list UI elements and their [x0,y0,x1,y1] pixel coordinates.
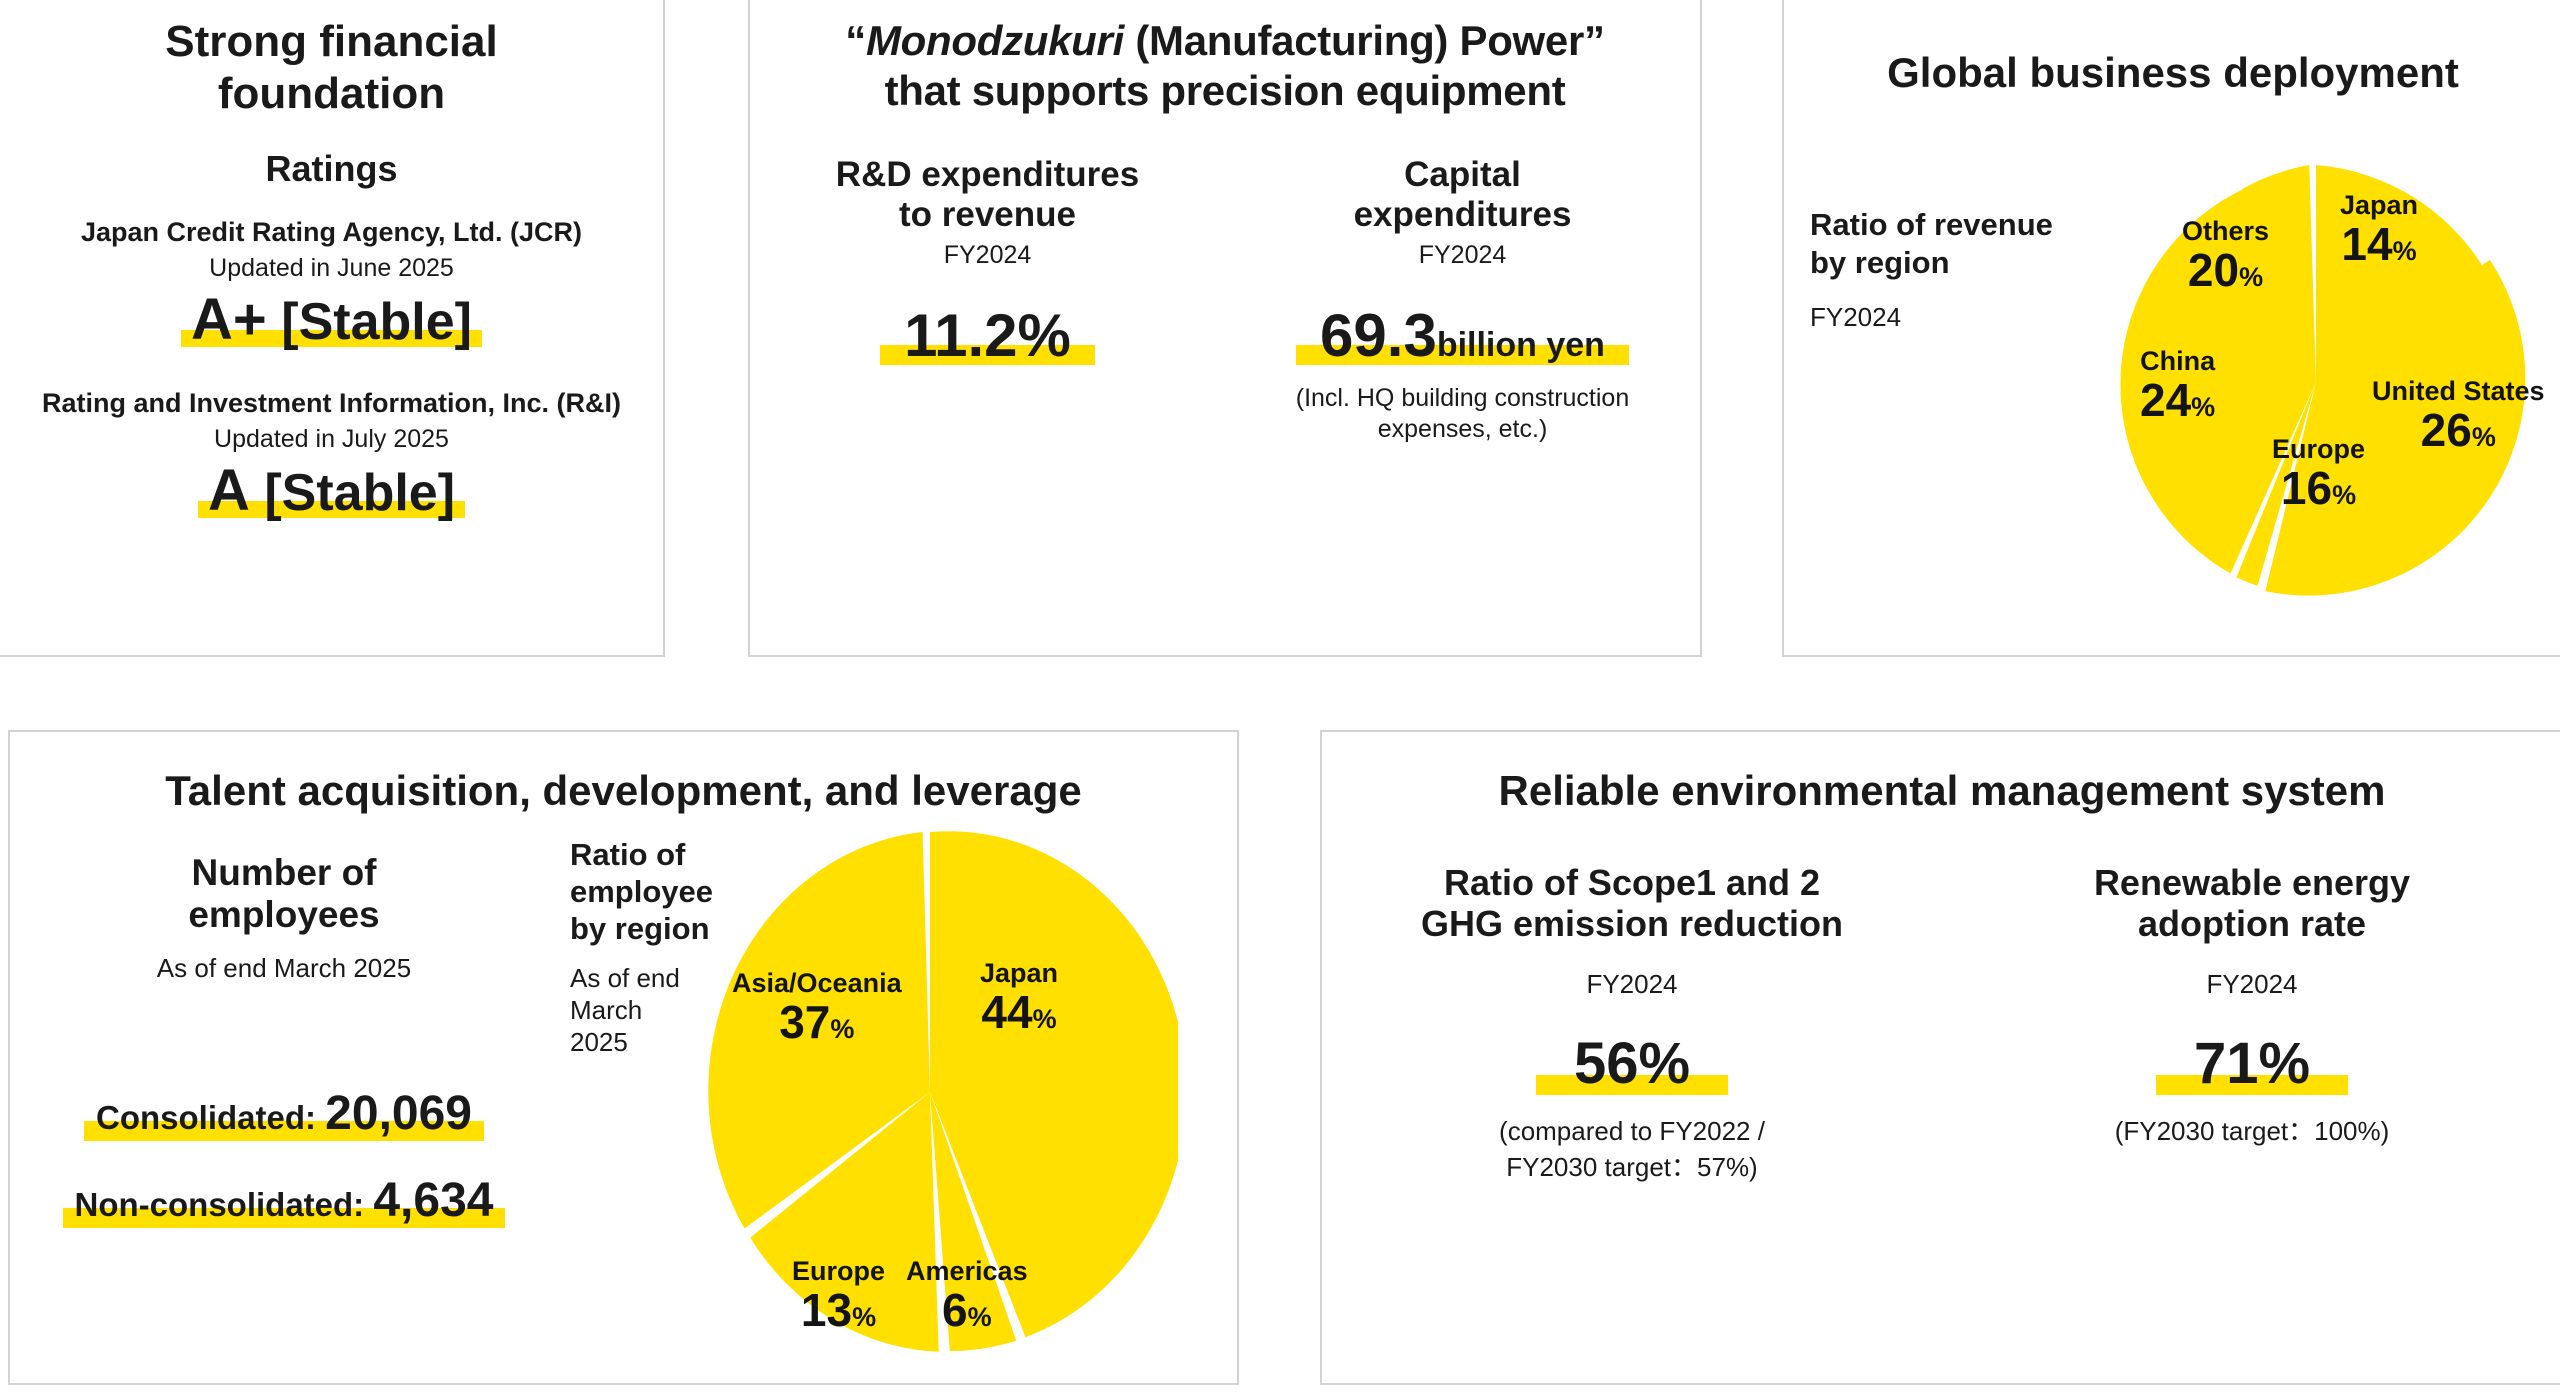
employees-title-line1: Number of [192,852,377,893]
panel-global-business-deployment: Global business deployment Ratio of reve… [1782,0,2560,657]
number-of-employees-block: Number of employees As of end March 2025… [28,852,540,1228]
kpi-rd-expenditures: R&D expenditures to revenue FY2024 11.2% [750,155,1225,445]
pie-label-japan-name: Japan [2340,192,2418,219]
env-label-ghg: Ratio of Scope1 and 2 GHG emission reduc… [1338,862,1926,946]
employee-ratio-caption-line1: Ratio of employee [570,837,713,909]
panel-title-monodzukuri-line2: that supports precision equipment [885,67,1566,114]
rating-block-rni: Rating and Investment Information, Inc. … [0,387,663,522]
rating-updated-jcr: Updated in June 2025 [0,252,663,285]
employees-as-of: As of end March 2025 [28,953,540,984]
pie-label-japan: Japan 44% [980,960,1058,1035]
rating-outlook-rni: [Stable] [264,464,455,522]
panel-title-financial: Strong financial foundation [0,16,663,120]
panel-title-global: Global business deployment [1784,48,2560,98]
panel-strong-financial-foundation: Strong financial foundation Ratings Japa… [0,0,665,657]
employee-ratio-caption-line2: by region [570,911,710,946]
env-value-highlight-renewable: 71% [2156,1034,2348,1095]
infographic-board: Strong financial foundation Ratings Japa… [0,0,2560,1393]
pie-label-europe-name: Europe [792,1258,885,1285]
env-label-renewable: Renewable energy adoption rate [1958,862,2546,946]
kpi-period-rd: FY2024 [764,241,1211,270]
rating-grade-rni: A [208,458,250,523]
revenue-by-region-pie-chart: Japan 14% United States 26% Europe 16% C… [2090,156,2542,608]
employee-ratio-caption: Ratio of employee by region As of end Ma… [570,836,790,1059]
kpi-label-rd-line1: R&D expenditures [836,155,1139,194]
kpi-period-capex: FY2024 [1239,241,1686,270]
consolidated-value: 20,069 [325,1087,472,1140]
pie-label-japan-name: Japan [980,960,1058,987]
employee-ratio-as-of: As of end March 2025 [570,963,790,1058]
env-label-ghg-line2: GHG emission reduction [1421,903,1843,944]
env-value-ghg: 56% [1574,1031,1690,1096]
env-metric-renewable: Renewable energy adoption rate FY2024 71… [1942,862,2560,1186]
env-label-ghg-line1: Ratio of Scope1 and 2 [1444,862,1820,903]
kpi-label-rd-line2: to revenue [899,195,1076,234]
pie-label-europe: Europe 16% [2272,436,2365,511]
kpi-label-capex: Capital expenditures [1239,155,1686,235]
env-label-renewable-line1: Renewable energy [2094,862,2410,903]
pie-label-japan-pct: % [1033,1004,1057,1034]
pie-label-japan-value: 14 [2341,218,2392,270]
kpi-capital-expenditures: Capital expenditures FY2024 69.3billion … [1225,155,1700,445]
pie-label-united-states-value: 26 [2421,404,2472,456]
pie-label-united-states-pct: % [2472,422,2496,452]
pie-label-others: Others 20% [2182,218,2269,293]
pie-label-others-value: 20 [2188,244,2239,296]
rating-grade-jcr: A+ [191,287,267,352]
rating-updated-rni: Updated in July 2025 [0,423,663,456]
env-note-ghg: (compared to FY2022 / FY2030 target：57%) [1338,1113,1926,1186]
pie-label-americas: Americas 6% [906,1258,1028,1333]
nonconsolidated-employees-highlight: Non-consolidated: 4,634 [63,1175,506,1228]
env-note-ghg-line1: (compared to FY2022 / [1499,1116,1765,1146]
pie-label-europe-value: 13 [801,1284,852,1336]
rating-value-rni: A [Stable] [208,464,455,522]
pie-label-europe-value: 16 [2281,462,2332,514]
kpi-note-capex-line1: (Incl. HQ building construction [1296,384,1629,412]
env-label-renewable-line2: adoption rate [2138,903,2366,944]
panel-title-environment: Reliable environmental management system [1322,766,2560,816]
panel-environmental-management: Reliable environmental management system… [1320,730,2560,1385]
employees-title: Number of employees [28,852,540,938]
pie-label-united-states-name: United States [2372,378,2545,405]
consolidated-employees-highlight: Consolidated: 20,069 [84,1088,484,1141]
panel-title-financial-line1: Strong financial [165,17,497,66]
pie-label-europe-pct: % [2332,480,2356,510]
quote-open: “ [845,17,866,64]
ratings-heading: Ratings [0,148,663,190]
employees-title-line2: employees [188,894,379,935]
rating-block-jcr: Japan Credit Rating Agency, Ltd. (JCR) U… [0,216,663,351]
pie-label-china: China 24% [2140,348,2215,423]
consolidated-employees: Consolidated: 20,069 [96,1099,472,1136]
rating-value-highlight-jcr: A+ [Stable] [181,290,482,351]
panel-title-financial-line2: foundation [218,69,445,118]
nonconsolidated-label: Non-consolidated: [75,1186,365,1223]
kpi-label-capex-line2: expenditures [1354,195,1572,234]
pie-label-americas-name: Americas [906,1258,1028,1285]
env-value-renewable: 71% [2194,1031,2310,1096]
env-metrics-row: Ratio of Scope1 and 2 GHG emission reduc… [1322,862,2560,1186]
kpi-value-highlight-capex: 69.3billion yen [1296,304,1629,367]
kpi-value-capex: 69.3billion yen [1320,302,1605,369]
rating-value-highlight-rni: A [Stable] [198,461,465,522]
env-period-ghg: FY2024 [1338,969,1926,1000]
env-period-renewable: FY2024 [1958,969,2546,1000]
pie-label-china-value: 24 [2140,374,2191,426]
kpi-value-capex-unit: billion yen [1437,326,1605,364]
employee-ratio-as-of-line2: March [570,995,642,1025]
pie-label-americas-value: 6 [942,1284,968,1336]
pie-label-japan-value: 44 [981,986,1032,1038]
pie-label-americas-pct: % [968,1302,992,1332]
pie-label-europe-name: Europe [2272,436,2365,463]
kpi-note-capex: (Incl. HQ building construction expenses… [1239,383,1686,446]
monodzukuri-title-rest: (Manufacturing) Power” [1124,17,1605,64]
pie-label-japan: Japan 14% [2340,192,2418,267]
env-note-ghg-line2: FY2030 target：57%) [1506,1152,1757,1182]
rating-value-jcr: A+ [Stable] [191,293,472,351]
consolidated-label: Consolidated: [96,1099,316,1136]
talent-body: Number of employees As of end March 2025… [10,816,1237,1376]
panel-title-monodzukuri: “Monodzukuri (Manufacturing) Power” that… [750,16,1700,115]
pie-label-china-pct: % [2191,392,2215,422]
kpi-value-highlight-rd: 11.2% [880,304,1095,367]
kpi-label-rd: R&D expenditures to revenue [764,155,1211,235]
rating-outlook-jcr: [Stable] [281,293,472,351]
revenue-caption-period: FY2024 [1810,301,2053,334]
env-note-renewable: (FY2030 target：100%) [1958,1113,2546,1149]
env-metric-ghg: Ratio of Scope1 and 2 GHG emission reduc… [1322,862,1942,1186]
panel-monodzukuri-power: “Monodzukuri (Manufacturing) Power” that… [748,0,1702,657]
pie-label-japan-pct: % [2393,236,2417,266]
rating-agency-name-jcr: Japan Credit Rating Agency, Ltd. (JCR) [0,216,663,250]
panel-title-talent: Talent acquisition, development, and lev… [10,766,1237,816]
kpi-value-capex-number: 69.3 [1320,302,1437,369]
pie-label-asia-oceania-pct: % [830,1014,854,1044]
pie-label-others-pct: % [2239,262,2263,292]
nonconsolidated-employees: Non-consolidated: 4,634 [75,1186,494,1223]
revenue-caption-line1: Ratio of revenue [1810,207,2053,242]
pie-label-others-name: Others [2182,218,2269,245]
pie-label-europe: Europe 13% [792,1258,885,1333]
pie-label-united-states: United States 26% [2372,378,2545,453]
pie-label-china-name: China [2140,348,2215,375]
revenue-by-region-caption: Ratio of revenue by region FY2024 [1810,206,2053,334]
nonconsolidated-value: 4,634 [373,1174,493,1227]
revenue-caption-line2: by region [1810,245,1950,280]
monodzukuri-word: Monodzukuri [866,17,1124,64]
env-value-highlight-ghg: 56% [1536,1034,1728,1095]
kpi-label-capex-line1: Capital [1404,155,1521,194]
kpi-value-rd: 11.2% [904,302,1071,369]
global-body: Ratio of revenue by region FY2024 [1784,98,2560,618]
panel-talent-acquisition: Talent acquisition, development, and lev… [8,730,1239,1385]
employee-ratio-as-of-line1: As of end [570,963,680,993]
employee-ratio-as-of-line3: 2025 [570,1027,628,1057]
env-note-renewable-line1: (FY2030 target：100%) [2115,1116,2390,1146]
rating-agency-name-rni: Rating and Investment Information, Inc. … [0,387,663,421]
kpi-note-capex-line2: expenses, etc.) [1378,415,1548,443]
pie-label-europe-pct: % [852,1302,876,1332]
kpi-row-monodzukuri: R&D expenditures to revenue FY2024 11.2%… [750,155,1700,445]
